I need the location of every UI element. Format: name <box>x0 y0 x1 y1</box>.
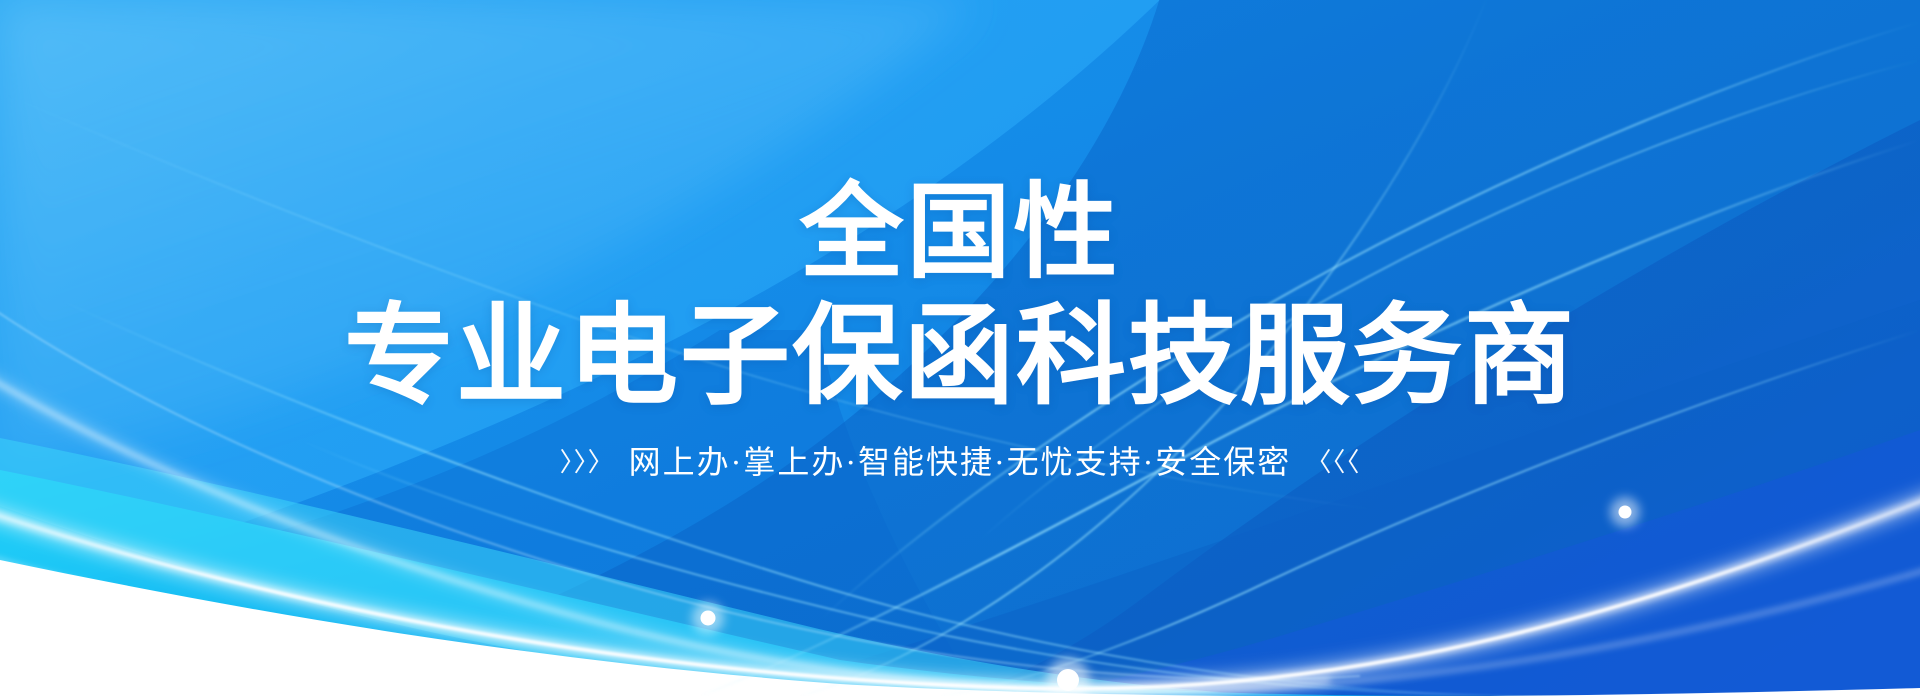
background-artwork <box>0 0 1920 696</box>
hero-banner: 全国性 专业电子保函科技服务商 〉〉〉网上办·掌上办·智能快捷·无忧支持·安全保… <box>0 0 1920 696</box>
swoosh-dot-right <box>1619 506 1632 519</box>
swoosh-dot-left <box>701 611 716 626</box>
